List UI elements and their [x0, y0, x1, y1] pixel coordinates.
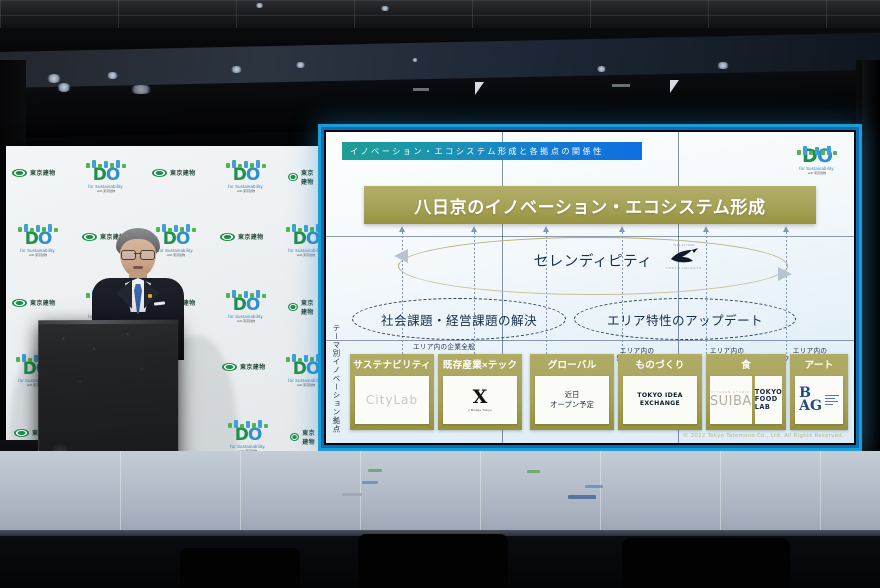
- floor-marker-tape: [368, 469, 382, 472]
- green-eye-oval-icon: [14, 429, 29, 437]
- ceiling-spotlight-icon: [128, 85, 154, 94]
- do-letter-d: D: [233, 165, 246, 185]
- audience-chair: [622, 538, 790, 588]
- ceiling-light-strip: [612, 84, 630, 87]
- hub-card-art[interactable]: アート B AG: [790, 354, 848, 430]
- ceiling-wedge-light-icon: [670, 80, 679, 93]
- backdrop-tt-logo: 東京建物: [12, 298, 56, 307]
- company-name: 東京建物: [30, 298, 56, 307]
- green-eye-oval-icon: [12, 299, 27, 307]
- slide-header-bar: イノベーション・エコシステム形成と各拠点の関係性: [342, 142, 642, 160]
- outcome-ellipse-social: 社会課題・経営課題の解決: [352, 298, 566, 340]
- backdrop-do-logo: DO for Sustainability. with 東京建物: [12, 224, 64, 258]
- do-crown-icon: [83, 160, 129, 168]
- hub-card-brand: CityLab: [355, 376, 429, 424]
- hub-card-brand: KITCHEN STUDIO SUIBA TOKYO FOOD LAB: [711, 376, 781, 424]
- do-letter-o: O: [246, 165, 259, 185]
- floor-seam: [240, 451, 241, 535]
- slide-corner-do-logo: DO for Sustainability. with 東京建物: [790, 140, 844, 176]
- hub-card-food[interactable]: 食 KITCHEN STUDIO SUIBA TOKYO FOOD LAB: [706, 354, 786, 430]
- floor-marker-tape: [527, 470, 540, 473]
- backdrop-tt-logo: 東京建物: [288, 298, 318, 316]
- ceiling-light-strip: [413, 88, 429, 91]
- do-subtagline: with 東京建物: [220, 189, 272, 193]
- led-video-wall: イノベーション・エコシステム形成と各拠点の関係性 DO for Sustaina…: [318, 124, 862, 451]
- ceiling-wedge-light-icon: [475, 82, 484, 95]
- ceiling-spotlight-icon: [716, 62, 730, 69]
- do-letter-o: O: [306, 359, 318, 379]
- eyeglasses-icon: [121, 250, 155, 258]
- floor-seam: [820, 451, 821, 535]
- audience-chair: [358, 534, 508, 588]
- hub-card-title: アート: [790, 354, 848, 374]
- hub-card-brand: B AG: [795, 376, 843, 424]
- ceiling-spotlight-icon: [295, 62, 306, 68]
- hub-card-title: 既存産業×テック: [438, 354, 522, 374]
- floor-marker-tape: [342, 493, 362, 496]
- hub-card-title: グローバル: [530, 354, 614, 374]
- floor-seam: [480, 451, 481, 535]
- floor-seam: [600, 451, 601, 535]
- backdrop-tt-logo: 東京建物: [290, 428, 318, 446]
- ceiling-spotlight-icon: [56, 83, 72, 92]
- bird-mark-bottom-text: TOKYO HEIGHTS: [661, 266, 707, 270]
- hub-card-brand: X x Bridge Tokyo: [443, 376, 517, 424]
- backdrop-tt-logo: 東京建物: [12, 168, 56, 177]
- green-eye-oval-icon: [12, 169, 27, 177]
- citylab-logo: CityLab: [366, 393, 418, 407]
- company-name: 東京建物: [301, 298, 318, 316]
- floor-seam: [720, 451, 721, 535]
- green-eye-oval-icon: [222, 363, 237, 371]
- stage-floor: [0, 451, 880, 535]
- ceiling-spotlight-icon: [596, 66, 607, 72]
- ceiling-tile-grid: [0, 0, 880, 30]
- presentation-slide: イノベーション・エコシステム形成と各拠点の関係性 DO for Sustaina…: [326, 132, 854, 443]
- ceiling-spotlight-icon: [230, 66, 243, 73]
- do-letter-d: D: [23, 359, 36, 379]
- tokyo-food-lab-logo-cell: TOKYO FOOD LAB: [755, 376, 782, 424]
- backdrop-do-logo: DO for Sustainability. with 東京建物: [220, 160, 272, 194]
- do-letter-d: D: [25, 229, 38, 249]
- do-crown-icon: [794, 147, 840, 155]
- swallow-bird-icon: THE FLYING TOKYO HEIGHTS: [661, 243, 707, 279]
- hub-card-global[interactable]: グローバル 近日 オープン予定: [530, 354, 614, 430]
- do-letter-d: D: [93, 165, 106, 185]
- ceiling-spotlight-icon: [46, 74, 62, 83]
- bag-rule-lines-icon: [825, 395, 839, 406]
- slide-headline-text: 八日京のイノベーション・エコシステム形成: [414, 193, 765, 218]
- lapel-pin-icon: [148, 294, 152, 298]
- coming-soon-label: 近日 オープン予定: [550, 390, 594, 410]
- hub-card-existing-industry-tech[interactable]: 既存産業×テック X x Bridge Tokyo: [438, 354, 522, 430]
- presenter-mouth: [133, 266, 143, 269]
- backdrop-do-logo: DO for Sustainability. with 東京建物: [80, 160, 132, 194]
- floor-marker-tape: [585, 485, 603, 488]
- do-crown-icon: [283, 354, 318, 362]
- conference-stage-scene: 東京建物 DO for Sustainability. with 東京建物 東京…: [0, 0, 880, 588]
- do-crown-icon: [223, 290, 269, 298]
- right-wall-column: [862, 60, 880, 460]
- do-subtagline: with 東京建物: [790, 171, 844, 175]
- backdrop-do-logo: DO for Sustainability. with 東京建物: [280, 224, 318, 258]
- green-eye-oval-icon: [288, 173, 298, 181]
- hub-card-brand: TOKYO IDEA EXCHANGE: [623, 376, 697, 424]
- do-letter-o: O: [248, 425, 261, 445]
- ceiling-spotlight-icon: [380, 6, 390, 11]
- group-caption-general-text: エリア内の企業全般: [413, 344, 475, 351]
- xbridge-logo: X x Bridge Tokyo: [468, 388, 492, 412]
- company-name: 東京建物: [238, 232, 264, 241]
- do-subtagline: with 東京建物: [220, 319, 272, 323]
- backdrop-do-logo: DO for Sustainability. with 東京建物: [280, 354, 318, 388]
- slide-headline-banner: 八日京のイノベーション・エコシステム形成: [364, 186, 816, 224]
- outcome-ellipse-area-label: エリア特性のアップデート: [607, 310, 763, 329]
- bird-mark-top-text: THE FLYING: [661, 243, 707, 247]
- green-eye-oval-icon: [288, 303, 298, 311]
- hub-card-brand: 近日 オープン予定: [535, 376, 609, 424]
- suiba-logo-cell: KITCHEN STUDIO SUIBA: [710, 376, 752, 424]
- slide-copyright: © 2022 Tokyo Tatemono Co., Ltd. All Righ…: [683, 433, 844, 439]
- tokyo-idea-exchange-logo: TOKYO IDEA EXCHANGE: [623, 392, 697, 408]
- company-name: 東京建物: [240, 362, 266, 371]
- tfl-line3: LAB: [755, 404, 782, 412]
- do-crown-icon: [223, 160, 269, 168]
- do-subtagline: with 東京建物: [12, 253, 64, 257]
- xbridge-sub: x Bridge Tokyo: [468, 408, 492, 412]
- company-name: 東京建物: [302, 428, 318, 446]
- do-letter-o: O: [306, 229, 318, 249]
- backdrop-do-logo: DO for Sustainability. with 東京建物: [220, 290, 272, 324]
- outcome-ellipse-social-label: 社会課題・経営課題の解決: [381, 310, 537, 329]
- hub-card-title: サステナビリティ: [350, 354, 434, 374]
- hub-card-sustainability[interactable]: サステナビリティ CityLab: [350, 354, 434, 430]
- ceiling-spotlight-icon: [412, 58, 418, 62]
- slide-header-text: イノベーション・エコシステム形成と各拠点の関係性: [342, 145, 604, 157]
- hub-card-title: ものづくり: [618, 354, 702, 374]
- company-name: 東京建物: [301, 168, 318, 186]
- hub-card-monozukuri[interactable]: ものづくり TOKYO IDEA EXCHANGE: [618, 354, 702, 430]
- outcome-ellipse-area: エリア特性のアップデート: [574, 298, 796, 340]
- backdrop-tt-logo: 東京建物: [220, 232, 264, 241]
- do-letter-d: D: [233, 295, 246, 315]
- do-letter-o: O: [106, 165, 119, 185]
- do-crown-icon: [283, 224, 318, 232]
- audience-chair: [180, 548, 300, 588]
- floor-marker-tape: [568, 495, 596, 499]
- hub-card-title: 食: [706, 354, 786, 374]
- do-crown-icon: [15, 224, 61, 232]
- group-caption-general: エリア内の企業全般: [358, 344, 530, 352]
- swallow-bird-glyph: [669, 248, 699, 265]
- do-letter-d: D: [235, 425, 248, 445]
- serendipity-label: セレンディピティ: [398, 250, 788, 271]
- ceiling-spotlight-icon: [106, 72, 119, 79]
- green-eye-oval-icon: [152, 169, 167, 177]
- floor-marker-tape: [362, 481, 378, 484]
- serendipity-cycle-diagram: セレンディピティ THE FLYING TOKYO HEIGHTS: [398, 237, 788, 295]
- do-subtagline: with 東京建物: [280, 383, 318, 387]
- company-name: 東京建物: [30, 168, 56, 177]
- backdrop-tt-logo: 東京建物: [288, 168, 318, 186]
- floor-seam: [120, 451, 121, 535]
- backdrop-tt-logo: 東京建物: [152, 168, 196, 177]
- vertical-axis-label: テーマ別イノベーション拠点: [330, 324, 343, 434]
- do-subtagline: with 東京建物: [280, 253, 318, 257]
- do-letter-o: O: [38, 229, 51, 249]
- do-crown-icon: [225, 420, 271, 428]
- company-name: 東京建物: [170, 168, 196, 177]
- bag-logo: B AG: [799, 387, 839, 413]
- do-letter-d: D: [293, 359, 306, 379]
- bag-letter-ag: AG: [799, 400, 822, 413]
- do-letter-d: D: [293, 229, 306, 249]
- ceiling-spotlight-icon: [255, 3, 264, 8]
- xbridge-glyph: X: [473, 388, 488, 407]
- green-eye-oval-icon: [290, 433, 299, 441]
- suiba-wordmark: SUIBA: [710, 394, 752, 409]
- do-letter-o: O: [246, 295, 259, 315]
- green-eye-oval-icon: [220, 233, 235, 241]
- backdrop-do-logo: DO for Sustainability. with 東京建物: [222, 420, 274, 454]
- do-subtagline: with 東京建物: [80, 189, 132, 193]
- backdrop-tt-logo: 東京建物: [222, 362, 266, 371]
